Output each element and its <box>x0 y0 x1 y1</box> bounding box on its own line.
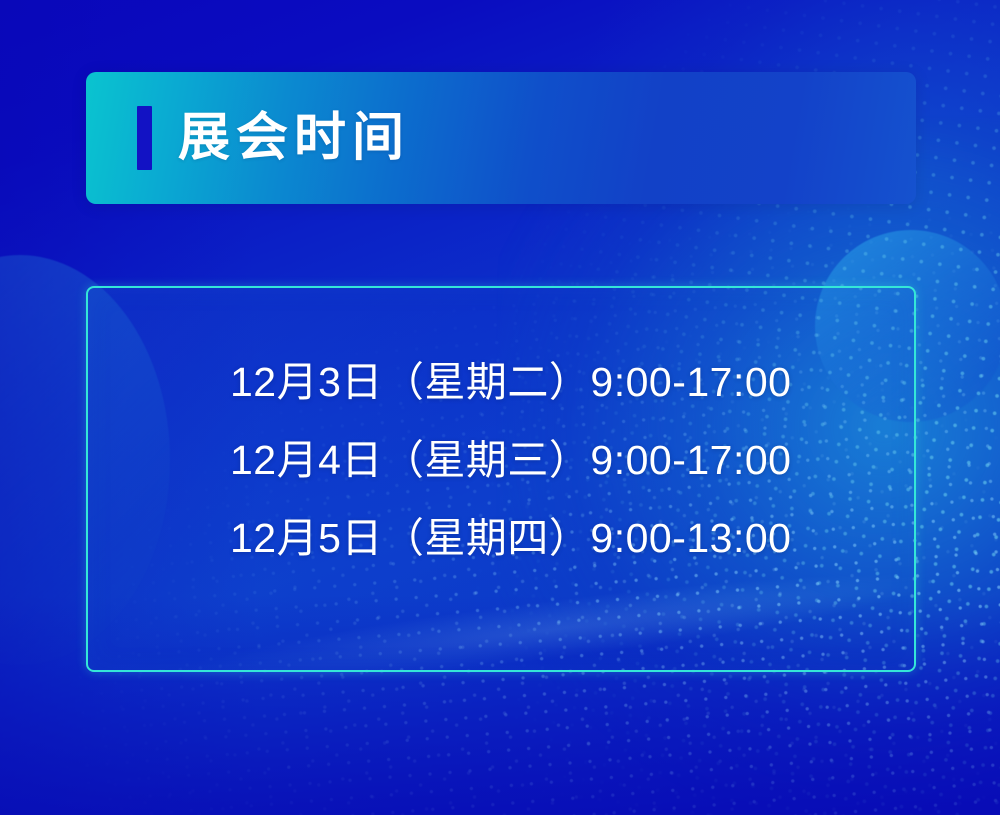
schedule-row: 12月5日（星期四）9:00-13:00 <box>230 516 791 560</box>
poster-canvas: 展会时间 12月3日（星期二）9:00-17:00 12月4日（星期三）9:00… <box>0 0 1000 815</box>
schedule-card: 12月3日（星期二）9:00-17:00 12月4日（星期三）9:00-17:0… <box>86 286 916 672</box>
schedule-row: 12月4日（星期三）9:00-17:00 <box>230 438 791 482</box>
schedule-list: 12月3日（星期二）9:00-17:00 12月4日（星期三）9:00-17:0… <box>230 360 791 560</box>
schedule-row: 12月3日（星期二）9:00-17:00 <box>230 360 791 404</box>
header-accent-bar <box>137 106 152 170</box>
section-header-banner: 展会时间 <box>86 72 916 204</box>
page-title: 展会时间 <box>178 98 410 178</box>
